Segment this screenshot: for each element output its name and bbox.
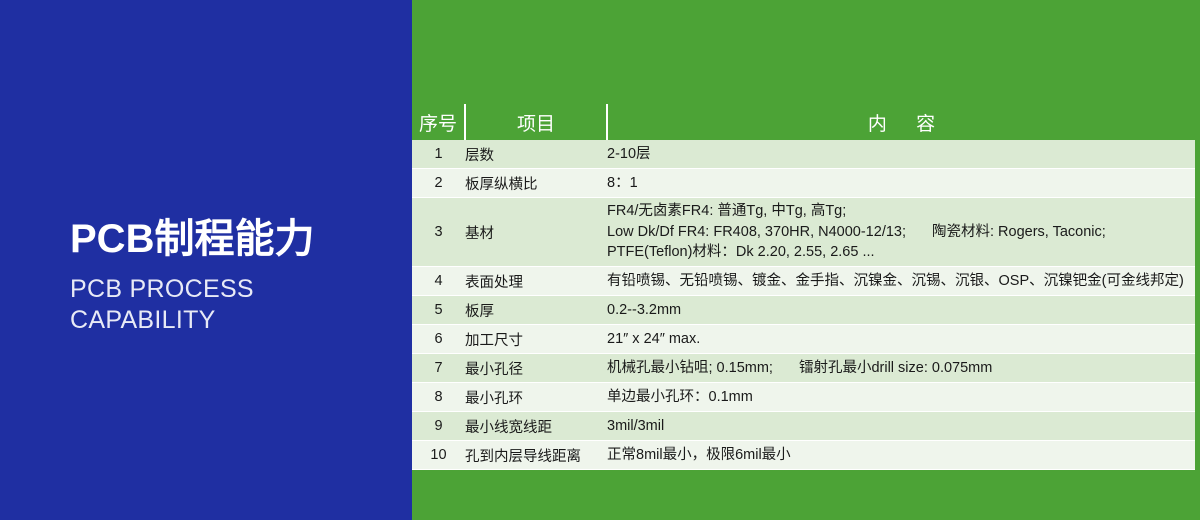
row-content: 有铅喷锡、无铅喷锡、镀金、金手指、沉镍金、沉锡、沉银、OSP、沉镍钯金(可金线邦… [607, 267, 1195, 296]
page-title-en-line2: CAPABILITY [70, 305, 400, 336]
row-no: 6 [412, 325, 465, 354]
col-header-content: 内 容 [607, 104, 1195, 140]
pcb-capability-table: 序号 项目 内 容 1 层数 2-10层 2 板厚纵横比 8：1 [412, 104, 1195, 470]
spec-table-wrap: 序号 项目 内 容 1 层数 2-10层 2 板厚纵横比 8：1 [412, 104, 1195, 470]
page-title-cn: PCB制程能力 [70, 218, 400, 260]
page-title-en-line1: PCB PROCESS [70, 274, 400, 305]
row-no: 10 [412, 441, 465, 470]
table-row: 7 最小孔径 机械孔最小钻咀; 0.15mm;镭射孔最小drill size: … [412, 354, 1195, 383]
table-row: 4 表面处理 有铅喷锡、无铅喷锡、镀金、金手指、沉镍金、沉锡、沉银、OSP、沉镍… [412, 267, 1195, 296]
col-header-no: 序号 [412, 104, 465, 140]
table-row: 10 孔到内层导线距离 正常8mil最小，极限6mil最小 [412, 441, 1195, 470]
row-no: 3 [412, 198, 465, 267]
table-row: 3 基材 FR4/无卤素FR4: 普通Tg, 中Tg, 高Tg; Low Dk/… [412, 198, 1195, 267]
row-item: 最小孔径 [465, 354, 607, 383]
row-no: 2 [412, 169, 465, 198]
row-item: 层数 [465, 140, 607, 169]
row-content-line: Low Dk/Df FR4: FR408, 370HR, N4000-12/13… [607, 224, 906, 240]
row-content: 21″ x 24″ max. [607, 325, 1195, 354]
table-row: 6 加工尺寸 21″ x 24″ max. [412, 325, 1195, 354]
row-no: 7 [412, 354, 465, 383]
row-content: 2-10层 [607, 140, 1195, 169]
row-content: 机械孔最小钻咀; 0.15mm;镭射孔最小drill size: 0.075mm [607, 354, 1195, 383]
row-content-line: FR4/无卤素FR4: 普通Tg, 中Tg, 高Tg; [607, 201, 1195, 222]
table-row: 5 板厚 0.2--3.2mm [412, 296, 1195, 325]
row-no: 4 [412, 267, 465, 296]
row-content: 3mil/3mil [607, 412, 1195, 441]
row-no: 8 [412, 383, 465, 412]
row-no: 9 [412, 412, 465, 441]
col-header-content-label: 内 容 [856, 114, 947, 135]
row-no: 5 [412, 296, 465, 325]
row-content: 单边最小孔环：0.1mm [607, 383, 1195, 412]
page-title-en: PCB PROCESS CAPABILITY [70, 274, 400, 335]
row-content-line: 陶瓷材料: Rogers, Taconic; [932, 224, 1106, 240]
table-row: 9 最小线宽线距 3mil/3mil [412, 412, 1195, 441]
slide-root: PCB制程能力 PCB PROCESS CAPABILITY 序号 项目 内 容 [0, 0, 1200, 520]
row-item: 表面处理 [465, 267, 607, 296]
row-item: 基材 [465, 198, 607, 267]
title-block: PCB制程能力 PCB PROCESS CAPABILITY [70, 218, 400, 335]
row-item: 最小线宽线距 [465, 412, 607, 441]
row-content-line-combined: Low Dk/Df FR4: FR408, 370HR, N4000-12/13… [607, 222, 1195, 243]
left-title-panel: PCB制程能力 PCB PROCESS CAPABILITY [0, 0, 412, 520]
row-content: 正常8mil最小，极限6mil最小 [607, 441, 1195, 470]
row-content-line: PTFE(Teflon)材料：Dk 2.20, 2.55, 2.65 ... [607, 242, 1195, 263]
row-item: 板厚纵横比 [465, 169, 607, 198]
row-content: 0.2--3.2mm [607, 296, 1195, 325]
row-content: 8：1 [607, 169, 1195, 198]
row-content-line: 镭射孔最小drill size: 0.075mm [799, 360, 992, 376]
table-body: 1 层数 2-10层 2 板厚纵横比 8：1 3 基材 FR4/无卤素FR4: … [412, 140, 1195, 470]
table-header-row: 序号 项目 内 容 [412, 104, 1195, 140]
row-content: FR4/无卤素FR4: 普通Tg, 中Tg, 高Tg; Low Dk/Df FR… [607, 198, 1195, 267]
row-item: 板厚 [465, 296, 607, 325]
table-row: 8 最小孔环 单边最小孔环：0.1mm [412, 383, 1195, 412]
table-header: 序号 项目 内 容 [412, 104, 1195, 140]
table-row: 2 板厚纵横比 8：1 [412, 169, 1195, 198]
col-header-item: 项目 [465, 104, 607, 140]
row-item: 加工尺寸 [465, 325, 607, 354]
table-row: 1 层数 2-10层 [412, 140, 1195, 169]
row-item: 最小孔环 [465, 383, 607, 412]
row-content-line: 机械孔最小钻咀; 0.15mm; [607, 360, 773, 376]
row-item: 孔到内层导线距离 [465, 441, 607, 470]
row-no: 1 [412, 140, 465, 169]
